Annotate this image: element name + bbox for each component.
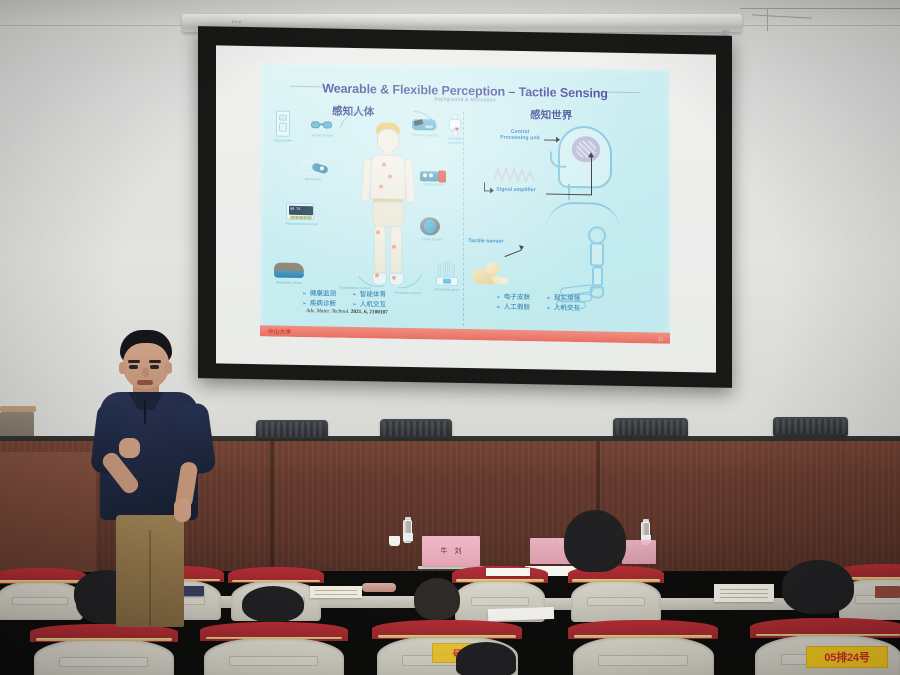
- body-hotspot-chest: [382, 162, 386, 166]
- right-bullet-row-2: ➢人工假肢 ➢人机交互: [496, 303, 580, 315]
- presenter-shirt-placket: [144, 400, 146, 424]
- stage-chair-1[interactable]: [256, 420, 328, 439]
- presentation-slide: Wearable & Flexible Perception – Tactile…: [260, 62, 670, 344]
- shoe-sole: [274, 270, 304, 278]
- bullet-marker-icon-3: ➢: [302, 301, 307, 307]
- slide-citation: Adv. Mater. Technol. 2021, 6, 2100107: [306, 308, 388, 315]
- bottle-body-1: [403, 520, 412, 543]
- name-card-1-text: 牛 刘: [422, 536, 480, 566]
- presenter-mouth: [137, 380, 153, 385]
- presenter-brow-left: [128, 360, 140, 363]
- seat-pad: [571, 580, 661, 622]
- seat-pad: [573, 636, 714, 675]
- bullet-marker-icon-6: ➢: [546, 295, 551, 301]
- citation-journal: Adv. Mater. Technol.: [306, 308, 349, 315]
- label-strain-sensor-upper: Strain sensor: [417, 182, 451, 187]
- watch-face: 65: [449, 119, 461, 131]
- student-head-front-2: [456, 642, 516, 675]
- right-bullet-group: ➢电子皮肤 ➢现实增强 ➢人工假肢 ➢人机交互: [496, 293, 580, 315]
- cpu-arrow-head: [556, 137, 560, 143]
- seat-pad: [204, 638, 343, 675]
- glove-fingers: [438, 262, 456, 278]
- coil-inner: [424, 219, 436, 233]
- seat-pad: [0, 581, 83, 620]
- seat-row1-1[interactable]: [30, 624, 178, 675]
- wall-panel-top-trim: [0, 406, 36, 412]
- glove-sensor-patch: [443, 279, 451, 284]
- seat-trim: [36, 638, 172, 641]
- bullet-right-2-text: 现实增强: [554, 295, 580, 302]
- bullet-marker-icon-2: ➢: [352, 292, 357, 298]
- seat-plate: [229, 656, 318, 666]
- bullet-marker-icon-8: ➢: [546, 306, 551, 312]
- glucometer-screen: [279, 115, 287, 121]
- ceiling-cable-drop: [767, 9, 768, 31]
- bullet-right-4-text: 人机交互: [554, 305, 580, 312]
- figure-hips: [372, 201, 404, 228]
- label-photoelectric-sensor: Photoelectric sensor: [282, 222, 322, 227]
- seat-trim: [0, 580, 82, 583]
- name-card-3: [622, 540, 656, 564]
- earbud-dot: [320, 166, 324, 170]
- glasses-bridge: [320, 123, 324, 125]
- presenter-nose: [142, 368, 149, 377]
- seat-number-label-main: 05排24号: [806, 646, 888, 668]
- seat-plate: [598, 655, 688, 666]
- body-hotspot-shin: [392, 245, 396, 249]
- amp-arrow-stem: [484, 182, 485, 191]
- seat-trim: [756, 634, 900, 637]
- label-central-processing-unit: Central Processing unit: [496, 129, 544, 142]
- figure-arm-right: [403, 159, 415, 203]
- neck-outline: [560, 184, 570, 200]
- right-column-heading: 感知世界: [530, 107, 572, 123]
- presenter-hand-resting: [174, 498, 191, 522]
- arm-upper-segment: [590, 242, 604, 266]
- bullet-left-1-text: 健康监测: [310, 290, 336, 297]
- face-profile: [550, 152, 566, 168]
- body-hotspot-abdomen: [388, 175, 392, 179]
- label-wearable-glove: Wearable glove: [434, 287, 460, 292]
- label-biosensor: Biosensor: [296, 177, 330, 182]
- seat-pad: [34, 639, 173, 675]
- bullet-marker-icon-5: ➢: [496, 295, 501, 301]
- label-wearable-watches: Wearable watches: [442, 137, 468, 146]
- stage-chair-2[interactable]: [380, 419, 452, 438]
- seat-trim: [572, 579, 660, 582]
- glasses-lens-left: [311, 121, 320, 128]
- glove-finger-2: [443, 262, 446, 277]
- label-pressure-sensor-upper: Pressure sensor: [408, 133, 442, 138]
- hand-thumb: [486, 262, 500, 274]
- tactile-sensor-hand-icon: [472, 262, 506, 289]
- figure-head: [377, 128, 399, 152]
- open-notebook-2[interactable]: [714, 584, 774, 602]
- presenter-brow-right: [149, 360, 161, 363]
- bullet-right-3-text: 人工假肢: [504, 304, 530, 311]
- student-head-2: [242, 586, 304, 622]
- module-red-end: [438, 171, 446, 183]
- paper-cup[interactable]: [389, 536, 400, 546]
- seat-row1-4[interactable]: [568, 620, 718, 675]
- seat-plate: [587, 597, 645, 606]
- watch-bpm-text: 65: [453, 128, 456, 131]
- module-led-1: [423, 173, 427, 177]
- label-pressure-sensor-foot: Pressure sensor: [391, 291, 425, 296]
- notebook-line: [315, 590, 357, 591]
- wearable-glove-icon: [436, 261, 458, 287]
- notebook-line: [315, 594, 357, 595]
- presenter-hand-gesturing: [119, 438, 140, 458]
- glasses-lens-right: [323, 121, 332, 128]
- seat-trim: [378, 635, 516, 638]
- presenter-eye-left: [129, 365, 138, 369]
- roller-brand-text: Elite: [232, 19, 242, 24]
- stage-chair-4[interactable]: [773, 417, 848, 436]
- slide-page-number: 12: [658, 337, 663, 342]
- presenter: [92, 330, 214, 630]
- strain-sensor-coil-icon: [420, 217, 440, 235]
- module-led-2: [429, 173, 433, 177]
- name-card-1-char-2: 刘: [455, 546, 462, 556]
- bullet-marker-icon-4: ➢: [352, 302, 357, 308]
- label-glucometer: Glucometer: [266, 138, 300, 143]
- bullet-left-4-text: 人机交互: [360, 301, 386, 308]
- bullet-left-3-text: 疾病诊断: [310, 300, 336, 307]
- seat-plate: [471, 597, 529, 606]
- red-book[interactable]: [875, 586, 900, 598]
- water-bottle-1[interactable]: [403, 517, 412, 543]
- label-visual-sensor: Visual sensor: [305, 133, 339, 138]
- glove-finger-4: [452, 264, 455, 277]
- seat-trim: [456, 579, 544, 582]
- desk-paper-3[interactable]: [488, 607, 554, 621]
- biosensor-earbud-icon: [300, 159, 330, 178]
- body-hotspot-knee: [376, 230, 380, 234]
- bullet-right-4: ➢人机交互: [546, 304, 580, 315]
- student-head-5: [564, 510, 626, 572]
- side-desk-left: [0, 452, 96, 572]
- pressure-sensor-band-icon: [412, 119, 436, 130]
- pencil-case[interactable]: [362, 583, 396, 592]
- body-hotspot-waist: [379, 184, 383, 188]
- name-card-1: 牛 刘: [422, 536, 480, 566]
- label-signal-amplifier: Signal amplifier: [494, 187, 538, 194]
- notebook-line: [720, 593, 768, 594]
- lecture-hall-photo: Elite Wearable & Flexible Perception – T…: [0, 0, 900, 675]
- student-head-3: [414, 578, 460, 620]
- bullet-right-2: ➢现实增强: [546, 293, 580, 304]
- university-logo-text: 中山大学: [268, 327, 292, 335]
- band-highlight: [425, 125, 433, 128]
- wearable-shoes-icon: [274, 262, 304, 278]
- wearable-watch-icon: 65: [448, 114, 462, 136]
- bullet-marker-icon-7: ➢: [496, 305, 501, 311]
- presenter-eye-right: [150, 365, 159, 369]
- label-strain-sensor-lower: Strain sensor: [415, 237, 449, 242]
- open-notebook-1[interactable]: [310, 586, 362, 598]
- seat-trim: [206, 637, 342, 640]
- presenter-ear-right: [165, 362, 172, 374]
- seat-plate: [12, 597, 67, 606]
- name-card-1-char-1: 牛: [441, 546, 448, 556]
- bullet-right-1: ➢电子皮肤: [496, 293, 530, 304]
- signal-path-arrow: [588, 152, 594, 157]
- label-tactile-sensor: Tactile sensor: [466, 238, 506, 245]
- ceiling-cable: [740, 8, 900, 9]
- glove-finger-3: [447, 262, 450, 277]
- tactile-arrow-head: [519, 244, 525, 251]
- amp-arrow-head: [490, 187, 494, 193]
- citation-details: 2021, 6, 2100107: [349, 309, 387, 316]
- signal-path-vertical: [591, 156, 592, 195]
- notebook-line: [720, 597, 768, 598]
- notebook-line: [720, 589, 768, 590]
- presenter-pants-crease: [149, 530, 151, 626]
- seat-row2-5[interactable]: [568, 566, 664, 622]
- oximeter-readout: 98 74: [290, 207, 300, 211]
- photoelectric-sensor-icon: 98 74: [286, 203, 314, 221]
- signal-waveform-icon: [494, 165, 534, 184]
- glucometer-keys: [279, 123, 287, 132]
- bullet-right-1-text: 电子皮肤: [504, 294, 530, 301]
- bullet-right-3: ➢人工假肢: [496, 303, 530, 314]
- seat-trim: [574, 635, 712, 638]
- bottle-label-1: [404, 533, 413, 541]
- desk-paper-2[interactable]: [486, 568, 530, 576]
- tactile-arrow-line: [504, 250, 521, 258]
- podium-seam-left: [270, 441, 274, 571]
- presenter-ear-left: [119, 362, 126, 374]
- bullet-left-2: ➢智能体育: [352, 290, 386, 301]
- oximeter-buttons: [290, 216, 312, 219]
- visual-sensor-glasses-icon: [311, 121, 333, 129]
- label-wearable-shoes: Wearable shoes: [272, 280, 306, 285]
- bullet-marker-icon: ➢: [302, 291, 307, 297]
- student-head-4: [782, 560, 854, 614]
- band-module: [414, 119, 424, 126]
- glove-finger-1: [438, 264, 441, 277]
- seat-row1-2[interactable]: [200, 622, 348, 675]
- stage-chair-3[interactable]: [613, 418, 688, 437]
- seat-plate: [59, 657, 148, 667]
- bullet-left-1: ➢健康监测: [302, 289, 336, 300]
- bullet-left-2-text: 智能体育: [360, 291, 386, 298]
